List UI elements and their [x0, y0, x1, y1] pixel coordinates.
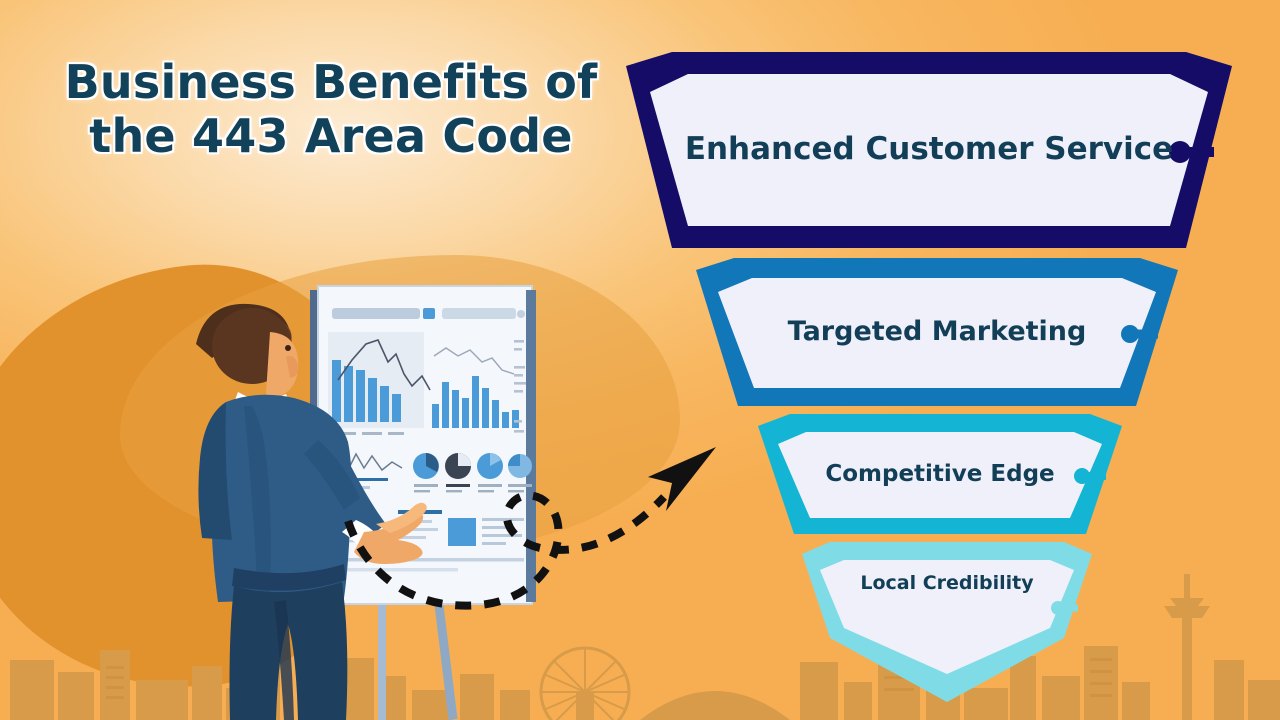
connector-stem [1130, 330, 1158, 339]
benefits-funnel: Enhanced Customer Service Targeted Marke… [626, 52, 1266, 712]
connector-stem [1082, 472, 1106, 480]
funnel-band-competitive-edge[interactable]: Competitive Edge [758, 414, 1122, 534]
funnel-band-shape [696, 258, 1178, 406]
connector-stem [1058, 605, 1078, 612]
funnel-band-shape [626, 52, 1232, 248]
funnel-band-local-credibility[interactable]: Local Credibility [802, 542, 1092, 702]
funnel-band-targeted-marketing[interactable]: Targeted Marketing [696, 258, 1178, 406]
connector-stem [1180, 147, 1214, 157]
funnel-band-shape [802, 542, 1092, 702]
page-title: Business Benefits of the 443 Area Code [46, 56, 616, 164]
funnel-band-shape [758, 414, 1122, 534]
funnel-band-enhanced-customer-service[interactable]: Enhanced Customer Service [626, 52, 1232, 248]
